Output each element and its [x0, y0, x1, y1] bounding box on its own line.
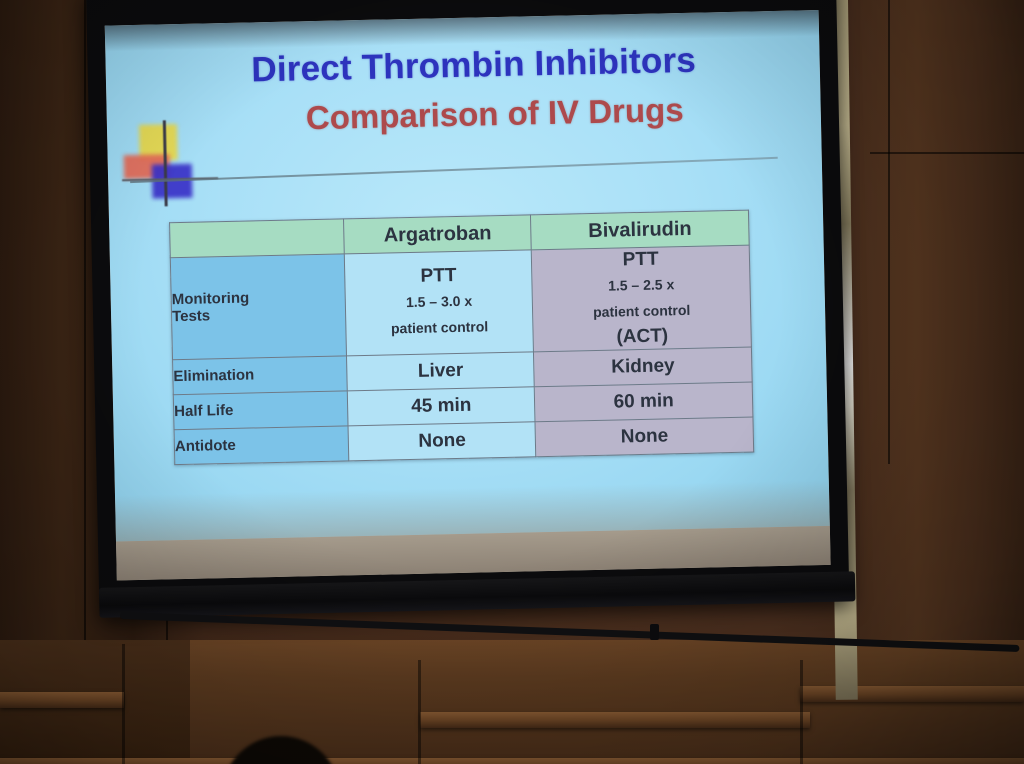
wall-seam-horizontal [870, 152, 1024, 154]
cell-monitoring-argatroban: PTT 1.5 – 3.0 x patient control [344, 250, 533, 356]
cell-elimination-bivalirudin: Kidney [534, 347, 752, 387]
screen-surface: Direct Thrombin Inhibitors Comparison of… [105, 10, 831, 580]
cable-clip [650, 624, 659, 640]
drug-comparison-table: Argatroban Bivalirudin Monitoring Tests [169, 210, 754, 465]
wall-seam-vertical [888, 0, 890, 464]
table-row: Monitoring Tests PTT 1.5 – 3.0 x patient… [170, 245, 751, 359]
panel-seam [418, 660, 421, 764]
cell-antidote-argatroban: None [348, 421, 536, 460]
panel-seam [122, 644, 125, 764]
powerpoint-pinwheel-logo [123, 119, 207, 207]
cell-half-life-argatroban: 45 min [347, 386, 535, 425]
cell-monitoring-bivalirudin: PTT 1.5 – 2.5 x patient control (ACT) [532, 245, 752, 351]
table-header-bivalirudin: Bivalirudin [531, 210, 749, 250]
panel-trim [0, 692, 124, 708]
slide-content: Direct Thrombin Inhibitors Comparison of… [105, 10, 830, 541]
title-divider-rule [130, 157, 778, 183]
panel-trim [0, 758, 1024, 764]
row-label-elimination: Elimination [173, 356, 348, 395]
wall-right-panel [860, 0, 1024, 660]
projection-screen: Direct Thrombin Inhibitors Comparison of… [86, 0, 849, 617]
panel-trim [420, 712, 810, 728]
row-label-antidote: Antidote [174, 426, 349, 465]
slide-title-line-2: Comparison of IV Drugs [194, 89, 795, 140]
cell-text-sub-2: patient control [346, 313, 533, 344]
row-label-half-life: Half Life [173, 391, 348, 430]
photo-scene: Direct Thrombin Inhibitors Comparison of… [0, 0, 1024, 764]
projected-image-area: Direct Thrombin Inhibitors Comparison of… [105, 10, 830, 541]
panel-trim [800, 686, 1024, 702]
cell-antidote-bivalirudin: None [535, 417, 753, 457]
row-label-monitoring-tests: Monitoring Tests [170, 254, 346, 359]
table-header-blank [170, 219, 345, 258]
cell-text-sub-1: 1.5 – 3.0 x [346, 286, 533, 317]
panel-seam [800, 660, 803, 764]
table-header-argatroban: Argatroban [344, 215, 532, 254]
cell-elimination-argatroban: Liver [347, 352, 535, 391]
row-label-line-2: Tests [172, 305, 345, 326]
cell-half-life-bivalirudin: 60 min [535, 382, 753, 422]
